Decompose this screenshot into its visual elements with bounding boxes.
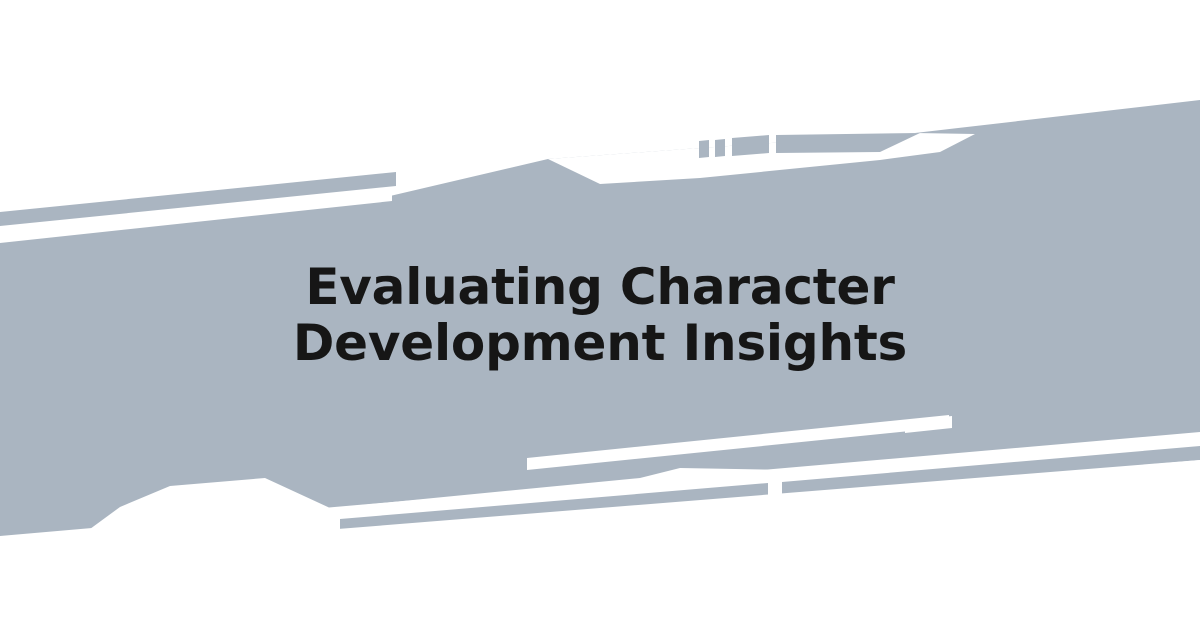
banner-card: Evaluating Character Development Insight… xyxy=(0,0,1200,630)
top-dash-3 xyxy=(732,135,769,156)
top-dash-2 xyxy=(715,139,725,157)
top-dash-1 xyxy=(699,140,709,158)
decorative-background-art xyxy=(0,0,1200,630)
